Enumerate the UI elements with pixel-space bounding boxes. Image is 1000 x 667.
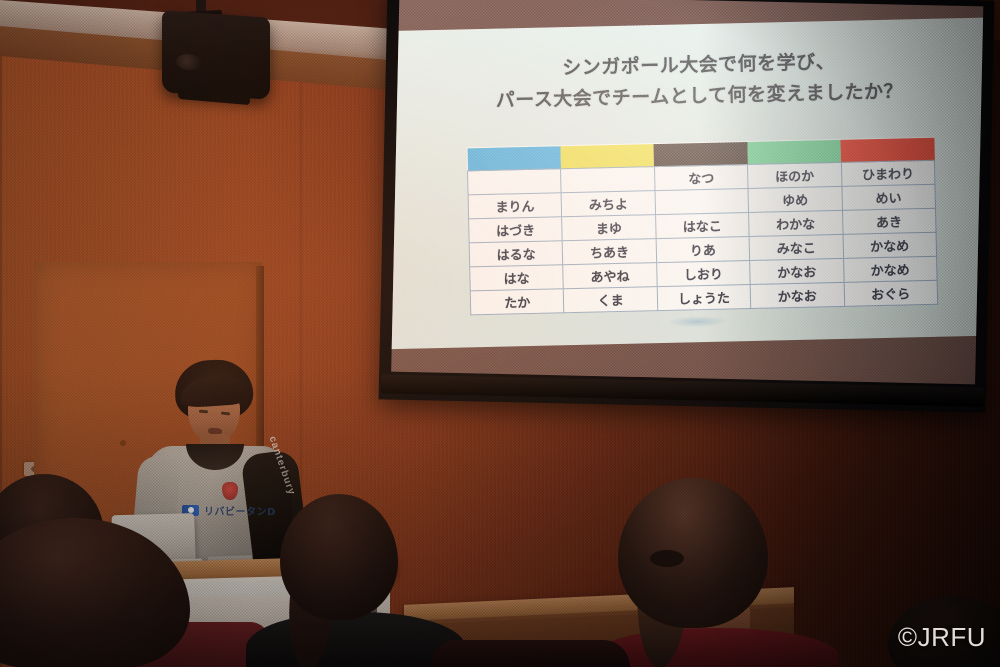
roster-cell: みなこ (749, 234, 843, 260)
audience-head (618, 478, 768, 628)
slide-title-line1: シンガポール大会で何を学び、 (562, 51, 835, 79)
roster-cell: はな (470, 265, 564, 291)
audience-head (280, 494, 398, 620)
roster-cell: みちよ (561, 191, 655, 217)
roster-cell: かなお (750, 258, 844, 284)
slide-title: シンガポール大会で何を学び、 パース大会でチームとして何を変えましたか？ (420, 44, 977, 118)
roster-table: なつほのかひまわりまりんみちよゆめめいはづきまゆはなこわかなあきはるなちあきりあ… (466, 137, 938, 316)
roster-cell: まりん (468, 193, 562, 219)
roster-cell: かなお (750, 282, 844, 308)
audience-head (0, 518, 190, 667)
roster-cell: あき (842, 208, 936, 234)
slide-title-line2: パース大会でチームとして何を変えましたか？ (421, 75, 978, 118)
roster-cell: なつ (654, 164, 748, 190)
audience-hair-tie (650, 550, 684, 567)
roster-table-wrap: なつほのかひまわりまりんみちよゆめめいはづきまゆはなこわかなあきはるなちあきりあ… (466, 137, 938, 316)
roster-table-body: なつほのかひまわりまりんみちよゆめめいはづきまゆはなこわかなあきはるなちあきりあ… (467, 137, 938, 315)
audience-member-left-front (0, 518, 190, 667)
roster-cell: はるな (469, 241, 563, 267)
roster-cell: はづき (469, 217, 563, 243)
projected-slide: シンガポール大会で何を学び、 パース大会でチームとして何を変えましたか？ (391, 17, 983, 349)
slide-footer-logo (668, 316, 726, 328)
roster-cell: はなこ (655, 212, 749, 238)
screenshot-root: シンガポール大会で何を学び、 パース大会でチームとして何を変えましたか？ (0, 0, 1000, 667)
color-swatch-brown (654, 142, 748, 167)
roster-cell: おぐら (844, 280, 938, 306)
roster-cell (561, 167, 655, 193)
roster-cell: たか (470, 289, 564, 315)
roster-cell: かなめ (843, 232, 937, 258)
color-swatch-blue (467, 146, 561, 171)
color-swatch-yellow (560, 144, 654, 169)
audience-member-bottom (430, 640, 630, 667)
roster-cell: まゆ (562, 215, 656, 241)
screen-surface: シンガポール大会で何を学び、 パース大会でチームとして何を変えましたか？ (391, 0, 983, 384)
roster-cell: くま (564, 287, 658, 313)
roster-cell: あやね (563, 263, 657, 289)
ceiling-speaker-icon (162, 10, 270, 100)
roster-cell (468, 169, 562, 195)
roster-cell: ひまわり (841, 160, 935, 186)
roster-cell: ほのか (748, 162, 842, 188)
color-swatch-green (747, 139, 841, 164)
roster-cell: ちあき (563, 239, 657, 265)
roster-cell: しおり (656, 260, 750, 286)
roster-cell: しょうた (657, 284, 751, 310)
projection-screen: シンガポール大会で何を学び、 パース大会でチームとして何を変えましたか？ (379, 0, 995, 413)
roster-cell (655, 188, 749, 214)
roster-cell: めい (842, 184, 936, 210)
sleeve-brand-text: canterbury (267, 435, 297, 497)
audience-body (594, 628, 838, 667)
roster-cell: りあ (656, 236, 750, 262)
roster-cell: ゆめ (748, 186, 842, 212)
roster-cell: かなめ (843, 256, 937, 282)
color-swatch-red (840, 137, 934, 162)
audience-member-center (252, 494, 442, 667)
audience-member-right (588, 478, 838, 667)
copyright-watermark: ©JRFU (898, 622, 986, 653)
roster-cell: わかな (749, 210, 843, 236)
